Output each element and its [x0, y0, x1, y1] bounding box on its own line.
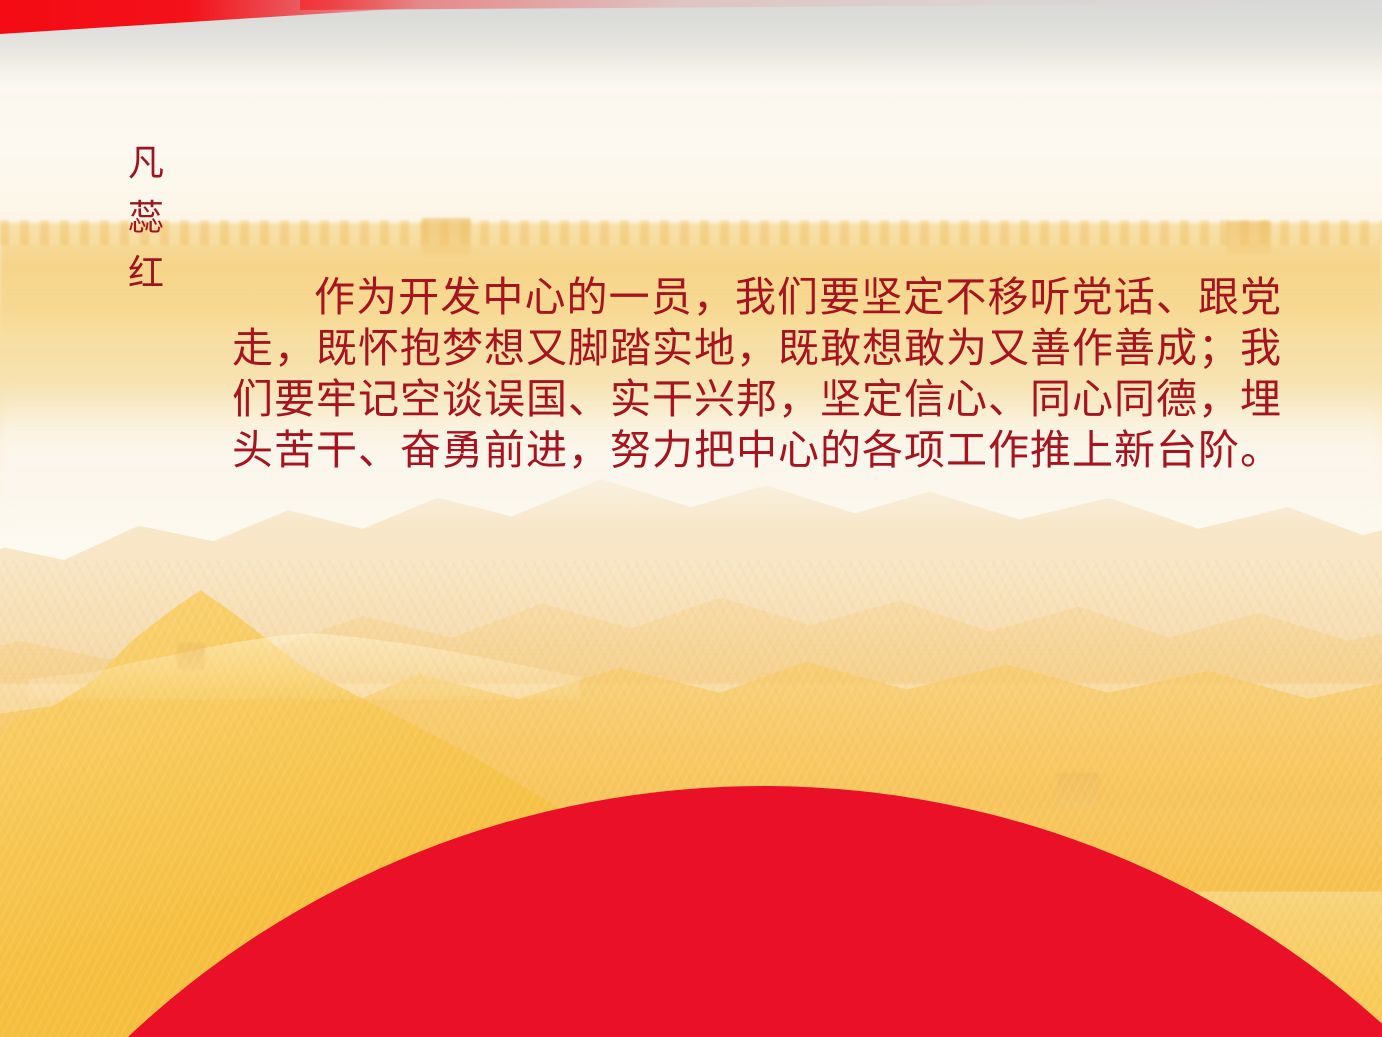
slide-canvas: 凡 蕊 红 作为开发中心的一员，我们要坚定不移听党话、跟党走，既怀抱梦想又脚踏实…	[0, 0, 1382, 1037]
watchtower-icon	[422, 218, 472, 255]
body-paragraph: 作为开发中心的一员，我们要坚定不移听党话、跟党走，既怀抱梦想又脚踏实地，既敢想敢…	[232, 272, 1282, 476]
vertical-title-char-3: 红	[122, 246, 170, 301]
vertical-title-char-1: 凡	[122, 136, 170, 191]
great-wall-crenellation	[0, 220, 1382, 245]
vertical-title: 凡 蕊 红	[122, 136, 170, 301]
watchtower-icon	[177, 643, 205, 670]
watchtower-icon	[1227, 221, 1271, 254]
vertical-title-char-2: 蕊	[122, 191, 170, 246]
watchtower-icon	[1057, 773, 1098, 808]
